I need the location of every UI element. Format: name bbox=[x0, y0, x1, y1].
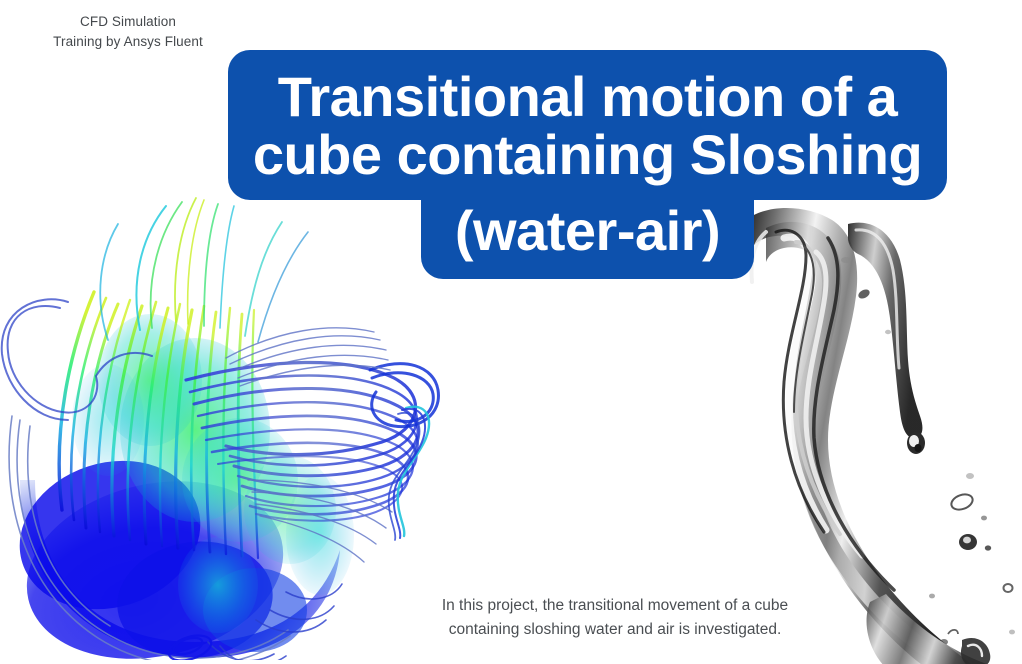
kicker-line-2: Training by Ansys Fluent bbox=[8, 32, 248, 52]
cfd-streamlines-image bbox=[0, 180, 460, 660]
caption-line-1: In this project, the transitional moveme… bbox=[330, 594, 900, 618]
caption-line-2: containing sloshing water and air is inv… bbox=[330, 618, 900, 642]
kicker-line-1: CFD Simulation bbox=[8, 12, 248, 32]
title-main-block: Transitional motion of a cube containing… bbox=[228, 50, 947, 200]
kicker-text: CFD Simulation Training by Ansys Fluent bbox=[8, 12, 248, 51]
title-line-2: cube containing Sloshing bbox=[248, 126, 927, 184]
title-line-3: (water-air) bbox=[421, 186, 754, 278]
caption-text: In this project, the transitional moveme… bbox=[330, 594, 900, 642]
title-line-1: Transitional motion of a bbox=[248, 68, 927, 126]
poster-canvas: CFD Simulation Training by Ansys Fluent bbox=[0, 0, 1022, 664]
